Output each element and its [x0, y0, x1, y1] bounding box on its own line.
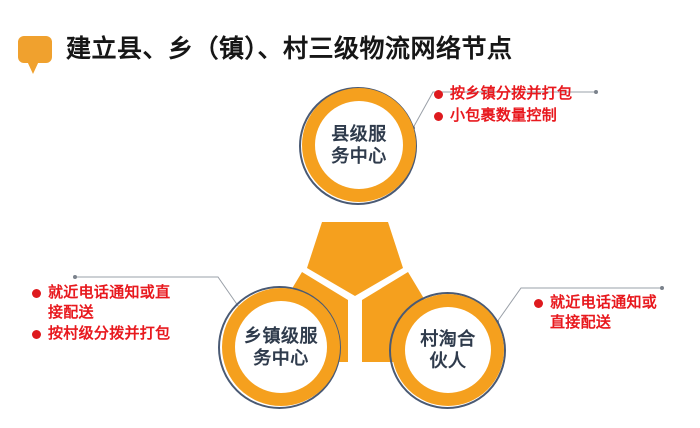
bullet-dot-icon	[32, 289, 41, 298]
node-county[interactable]: 县级服 务中心	[302, 88, 416, 202]
annotation-text: 就近电话通知或直 接配送	[48, 283, 170, 322]
node-township-label: 乡镇级服 务中心	[241, 325, 321, 370]
bullet-dot-icon	[434, 112, 443, 121]
diagram-vector-layer	[0, 0, 700, 428]
annotation-item: 按村级分拨并打包	[32, 324, 222, 344]
node-township-inner: 乡镇级服 务中心	[235, 301, 327, 393]
annotation-text: 小包裹数量控制	[450, 106, 557, 126]
annotation-item: 就近电话通知或直 接配送	[32, 283, 222, 322]
node-county-inner: 县级服 务中心	[315, 101, 403, 189]
annotation-item: 按乡镇分拨并打包	[434, 84, 572, 104]
leader-anchor-county	[594, 90, 598, 94]
bullet-dot-icon	[434, 90, 443, 99]
node-township[interactable]: 乡镇级服 务中心	[222, 288, 340, 406]
leader-anchor-township	[73, 275, 77, 279]
annotation-text: 就近电话通知或 直接配送	[550, 293, 657, 332]
annotation-county: 按乡镇分拨并打包 小包裹数量控制	[434, 84, 572, 127]
node-county-label: 县级服 务中心	[324, 123, 394, 168]
annotation-item: 小包裹数量控制	[434, 106, 572, 126]
node-village[interactable]: 村淘合 伙人	[392, 294, 504, 406]
leader-anchor-village	[660, 286, 664, 290]
bullet-dot-icon	[32, 330, 41, 339]
node-village-label: 村淘合 伙人	[413, 328, 483, 373]
bullet-dot-icon	[534, 299, 543, 308]
slide-canvas: 建立县、乡（镇）、村三级物流网络节点	[0, 0, 700, 428]
annotation-township: 就近电话通知或直 接配送 按村级分拨并打包	[32, 283, 222, 346]
annotation-text: 按村级分拨并打包	[48, 324, 170, 344]
logistics-network-diagram: 县级服 务中心 乡镇级服 务中心 村淘合 伙人 按乡镇分拨并打包	[0, 0, 700, 428]
annotation-text: 按乡镇分拨并打包	[450, 84, 572, 104]
annotation-village: 就近电话通知或 直接配送	[534, 293, 694, 334]
annotation-item: 就近电话通知或 直接配送	[534, 293, 694, 332]
node-village-inner: 村淘合 伙人	[405, 307, 491, 393]
